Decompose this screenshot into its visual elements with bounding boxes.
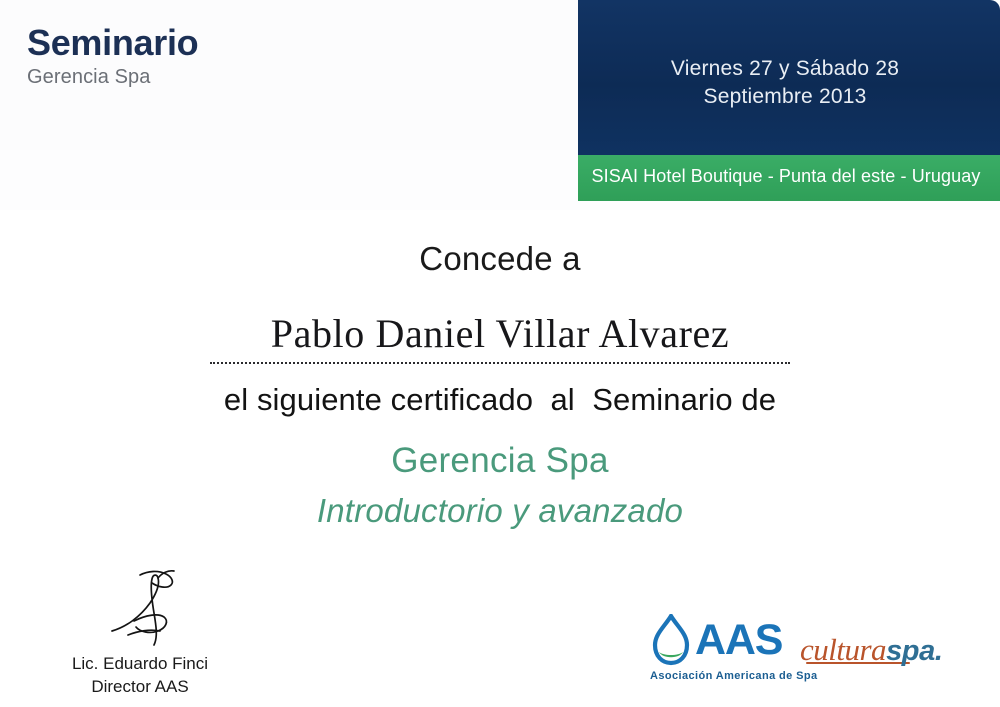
event-date-panel: Viernes 27 y Sábado 28 Septiembre 2013 [578, 0, 1000, 155]
culturaspa-wordmark: culturaspa. [800, 634, 980, 666]
certificate-page: Seminario Gerencia Spa Viernes 27 y Sába… [0, 0, 1000, 707]
aas-acronym: AAS [695, 619, 782, 662]
grants-label: Concede a [0, 240, 1000, 278]
aas-logo: AAS Asociación Americana de Spa [650, 612, 790, 694]
certificate-body: Concede a Pablo Daniel Villar Alvarez el… [0, 240, 1000, 530]
culturaspa-part-one: cultura [800, 632, 886, 667]
seminar-name: Gerencia Spa [0, 441, 1000, 481]
handwritten-signature-icon [92, 565, 212, 660]
aas-tagline: Asociación Americana de Spa [650, 670, 790, 682]
event-date-line-2: Septiembre 2013 [578, 83, 992, 111]
recipient-name-rule [210, 362, 790, 364]
event-venue-bar: SISAI Hotel Boutique - Punta del este - … [578, 155, 1000, 201]
signature-name: Lic. Eduardo Finci [30, 653, 250, 676]
seminar-subtitle: Introductorio y avanzado [0, 492, 1000, 530]
recipient-name: Pablo Daniel Villar Alvarez [271, 310, 730, 357]
page-title: Seminario [27, 24, 447, 62]
recipient-name-row: Pablo Daniel Villar Alvarez [0, 310, 1000, 366]
event-date-line-1: Viernes 27 y Sábado 28 [578, 55, 992, 83]
culturaspa-logo: culturaspa. [800, 634, 980, 686]
seminar-title-block: Seminario Gerencia Spa [27, 24, 447, 89]
culturaspa-part-two: spa. [886, 635, 942, 667]
event-venue-text: SISAI Hotel Boutique - Punta del este - … [578, 166, 994, 187]
page-subtitle: Gerencia Spa [27, 66, 447, 89]
signature-role: Director AAS [30, 676, 250, 699]
signature-block: Lic. Eduardo Finci Director AAS [30, 565, 250, 699]
water-drop-leaf-icon [650, 614, 692, 666]
event-date-text: Viernes 27 y Sábado 28 Septiembre 2013 [578, 55, 992, 111]
aas-logo-row: AAS [650, 612, 790, 668]
certificate-statement: el siguiente certificado al Seminario de [0, 382, 1000, 418]
